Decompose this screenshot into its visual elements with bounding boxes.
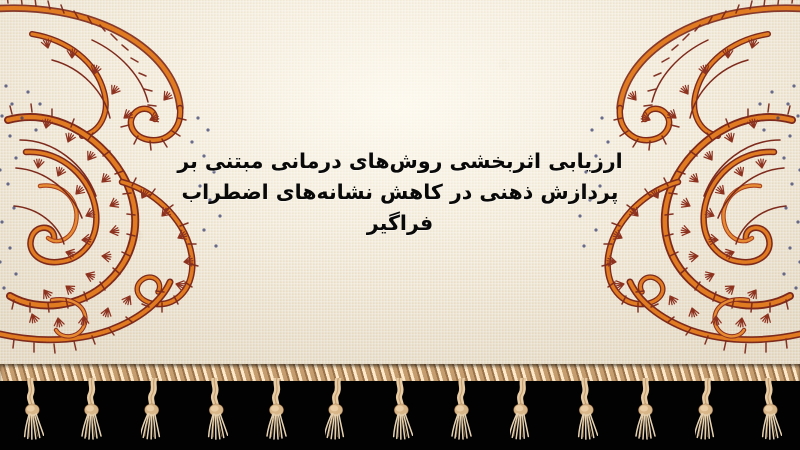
title-line-1: ارزیابی اثربخشی روش‌های درمانی مبتنی بر <box>150 146 650 177</box>
fringe-tassel <box>510 378 536 442</box>
fringe-tassel <box>325 378 351 442</box>
fringe-tassel <box>18 378 44 442</box>
fringe-tassel <box>633 378 659 442</box>
fringe-tassel <box>141 378 167 442</box>
fringe-tassel <box>756 378 782 442</box>
title-line-2: پردازش ذهنی در کاهش نشانه‌های اضطراب <box>150 177 650 208</box>
fringe-tassel <box>264 378 290 442</box>
tassel-fringe-band <box>0 364 800 450</box>
slide-canvas: ارزیابی اثربخشی روش‌های درمانی مبتنی بر … <box>0 0 800 450</box>
fringe-tassel <box>202 378 228 442</box>
fringe-tassel <box>79 378 105 442</box>
title-line-3: فراگیر <box>150 208 650 239</box>
fringe-tassel <box>695 378 721 442</box>
fringe-tassel <box>387 378 413 442</box>
fringe-tassel <box>449 378 475 442</box>
fringe-tassel <box>572 378 598 442</box>
slide-title: ارزیابی اثربخشی روش‌های درمانی مبتنی بر … <box>150 146 650 239</box>
